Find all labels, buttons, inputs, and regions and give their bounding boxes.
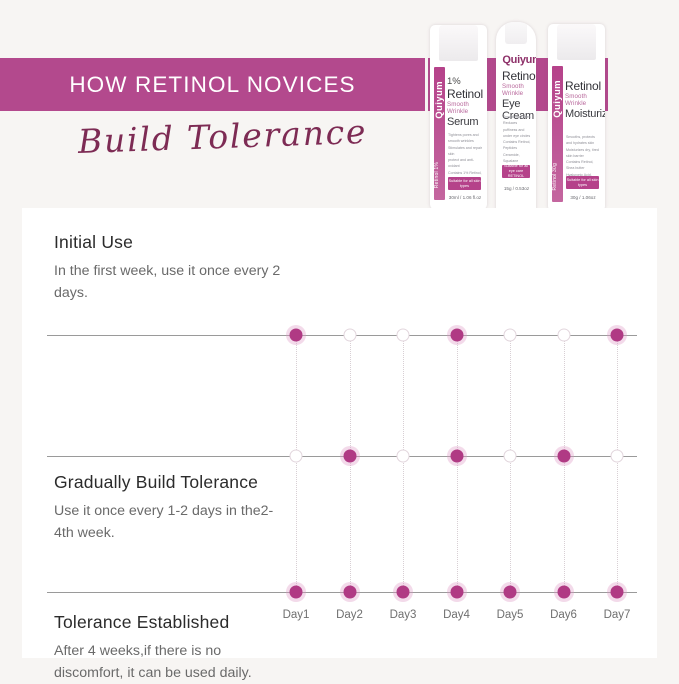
step-gradually-build-tolerance: Gradually Build Tolerance Use it once ev… — [54, 472, 289, 544]
product-volume: 15g / 0.53oz — [502, 186, 531, 191]
product-strip-text: Retinol 30g — [552, 163, 558, 191]
product-volume: 30g / 1.06oz — [566, 195, 600, 200]
timeline-dot-initial-use-day6-hollow — [557, 329, 570, 342]
timeline-dot-initial-use-day3-hollow — [397, 329, 410, 342]
timeline-dot-gradually-build-tolerance-day3-hollow — [397, 450, 410, 463]
timeline-dot-tolerance-established-day7-filled — [611, 586, 624, 599]
step-title: Gradually Build Tolerance — [54, 472, 289, 493]
product-subtitle: Smooth Wrinkle — [447, 101, 483, 116]
header-script-subtitle: Build Tolerance — [77, 112, 368, 161]
timeline-dot-gradually-build-tolerance-day4-filled — [450, 450, 463, 463]
product-badge: Suitable for all skin types — [448, 177, 481, 190]
day-label-2: Day2 — [336, 609, 363, 621]
day-label-4: Day4 — [443, 609, 470, 621]
day-label-1: Day1 — [283, 609, 310, 621]
timeline-guide-line — [296, 335, 297, 592]
product-name: Retinol — [447, 88, 483, 101]
product-badge: Suitable for all skin types — [566, 176, 599, 189]
timeline-dot-tolerance-established-day2-filled — [343, 586, 356, 599]
page-title: HOW RETINOL NOVICES — [69, 72, 355, 98]
product-eyecream-tube: Quiyum Retinol Smooth Wrinkle Eye Cream … — [496, 22, 536, 212]
day-label-6: Day6 — [550, 609, 577, 621]
timeline-guide-line — [510, 335, 511, 592]
product-brand-vertical: Quiyum — [434, 81, 445, 119]
step-description: After 4 weeks,if there is no discomfort,… — [54, 640, 289, 684]
step-tolerance-established: Tolerance Established After 4 weeks,if t… — [54, 612, 289, 684]
timeline-dot-gradually-build-tolerance-day7-hollow — [611, 450, 624, 463]
tube-cap-icon — [505, 22, 527, 44]
timeline-dot-tolerance-established-day3-filled — [397, 586, 410, 599]
timeline-dot-initial-use-day5-hollow — [504, 329, 517, 342]
product-group: Quiyum Retinol 1% 1% Retinol Smooth Wrin… — [420, 0, 679, 225]
product-moisturizer-bottle: Quiyum Retinol 30g Retinol Smooth Wrinkl… — [548, 24, 605, 212]
step-title: Tolerance Established — [54, 612, 289, 633]
pump-cap-icon — [557, 24, 596, 60]
product-name: Retinol — [565, 80, 601, 93]
step-description: In the first week, use it once every 2 d… — [54, 260, 289, 304]
timeline-dot-initial-use-day2-hollow — [343, 329, 356, 342]
product-subtitle: Smooth Wrinkle — [502, 83, 532, 98]
timeline-row-line-tolerance-established — [47, 592, 637, 593]
timeline-guide-line — [403, 335, 404, 592]
timeline-row-line-gradually-build-tolerance — [47, 456, 637, 457]
product-subtitle: Smooth Wrinkle — [565, 93, 601, 108]
product-serum-bottle: Quiyum Retinol 1% 1% Retinol Smooth Wrin… — [430, 25, 487, 210]
timeline-dot-gradually-build-tolerance-day5-hollow — [504, 450, 517, 463]
timeline-guide-line — [457, 335, 458, 592]
timeline-dot-tolerance-established-day1-filled — [290, 586, 303, 599]
product-type: Moisturizer — [565, 108, 601, 120]
timeline-dot-initial-use-day7-filled — [611, 329, 624, 342]
product-name: Retinol — [502, 70, 532, 83]
timeline-dot-initial-use-day1-filled — [290, 329, 303, 342]
timeline-dot-tolerance-established-day5-filled — [504, 586, 517, 599]
product-brand-vertical: Quiyum — [552, 80, 563, 118]
product-strip-text: Retinol 1% — [434, 162, 440, 188]
pump-cap-icon — [439, 25, 478, 61]
timeline-dot-gradually-build-tolerance-day6-filled — [557, 450, 570, 463]
day-label-7: Day7 — [604, 609, 631, 621]
timeline-dot-gradually-build-tolerance-day2-filled — [343, 450, 356, 463]
timeline-row-line-initial-use — [47, 335, 637, 336]
product-type: Serum — [447, 116, 483, 128]
step-description: Use it once every 1-2 days in the2-4th w… — [54, 500, 289, 544]
timeline-guide-line — [617, 335, 618, 592]
step-title: Initial Use — [54, 232, 289, 253]
timeline-guide-line — [564, 335, 565, 592]
day-label-3: Day3 — [390, 609, 417, 621]
header-banner: HOW RETINOL NOVICES — [0, 58, 425, 111]
product-brand: Quiyum — [502, 54, 536, 66]
step-initial-use: Initial Use In the first week, use it on… — [54, 232, 289, 304]
timeline-dot-gradually-build-tolerance-day1-hollow — [290, 450, 303, 463]
product-description: Smooth fine lines Reduces puffiness and … — [503, 114, 531, 171]
day-label-5: Day5 — [497, 609, 524, 621]
timeline-dot-tolerance-established-day6-filled — [557, 586, 570, 599]
product-badge: Suitable for all eye care RETINOL — [502, 165, 530, 178]
timeline-dot-initial-use-day4-filled — [450, 329, 463, 342]
product-volume: 30ml / 1.06 fl.oz — [448, 195, 482, 200]
timeline-dot-tolerance-established-day4-filled — [450, 586, 463, 599]
timeline-guide-line — [350, 335, 351, 592]
